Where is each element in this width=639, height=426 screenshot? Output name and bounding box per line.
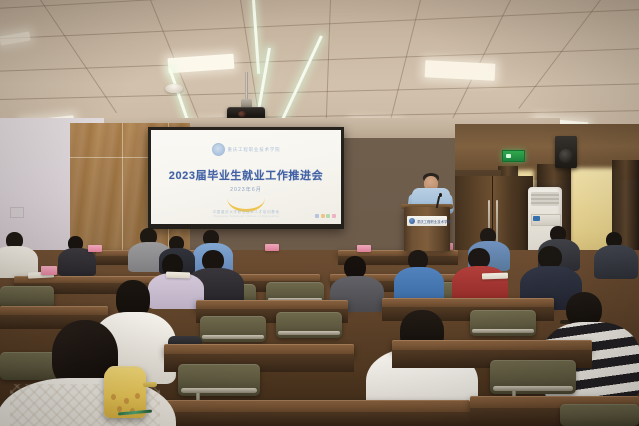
chair[interactable] — [560, 404, 639, 426]
chair-rail — [493, 386, 573, 391]
chair-rail — [278, 331, 340, 335]
slide-dot-pink — [332, 214, 336, 218]
desk-front-front — [140, 412, 470, 426]
microphone-icon — [439, 193, 442, 197]
chair[interactable] — [0, 286, 54, 308]
chair-rail — [181, 388, 257, 393]
eyeglasses-icon — [560, 320, 572, 324]
podium-plaque-text: 重庆工程职业技术学院 — [417, 219, 451, 224]
slide-dot-blue — [315, 214, 319, 218]
name-card — [265, 244, 279, 251]
projector-lens — [238, 111, 246, 117]
slide-dot-green — [326, 214, 330, 218]
name-card — [357, 245, 371, 252]
handout-paper — [482, 273, 508, 280]
podium-plaque: 重庆工程职业技术学院 — [407, 216, 447, 226]
air-conditioner-badge — [533, 216, 540, 221]
ceiling-light-panel — [425, 60, 496, 81]
ceiling — [0, 0, 639, 136]
chair-rail — [202, 335, 264, 339]
slide-date: 2023年6月 — [151, 186, 341, 193]
slide-title: 2023届毕业生就业工作推进会 — [151, 167, 341, 183]
bag-pattern-dot — [124, 398, 129, 404]
slide-corner-dots — [315, 214, 336, 218]
name-card — [41, 266, 57, 275]
slide-organization-text: 重庆工程职业技术学院 — [228, 147, 281, 153]
slide-dot-orange — [321, 214, 325, 218]
bag-pattern-dot — [117, 406, 122, 412]
exit-sign-icon — [502, 150, 525, 162]
slide-logo-row: 重庆工程职业技术学院 — [151, 143, 341, 156]
conference-room-photo: 重庆工程职业技术学院 2023届毕业生就业工作推进会 2023年6月 中国重庆大… — [0, 0, 639, 426]
podium — [404, 207, 450, 251]
slide-footer-subtext: Chongqing Vocational Institute of Engine… — [151, 215, 341, 218]
bag-pattern-dot — [111, 394, 116, 400]
smoke-detector-icon — [165, 84, 183, 93]
ceiling-light-panel — [168, 54, 235, 74]
attendee-torso — [594, 245, 638, 279]
podium-emblem-icon — [409, 218, 415, 224]
attendee-torso — [58, 248, 96, 276]
ceiling-light-strip — [278, 35, 323, 127]
wall-socket — [10, 207, 24, 218]
wall-loudspeaker — [555, 136, 577, 168]
ceiling-light-panel — [0, 31, 31, 45]
air-conditioner-grille — [531, 192, 559, 206]
bag-pattern-dot — [135, 393, 140, 399]
university-emblem-icon — [212, 143, 225, 156]
handout-paper — [166, 272, 190, 279]
chair-rail — [472, 329, 534, 333]
bag-strap — [143, 382, 157, 387]
name-card — [88, 245, 102, 252]
projection-screen: 重庆工程职业技术学院 2023届毕业生就业工作推进会 2023年6月 中国重庆大… — [151, 130, 341, 224]
